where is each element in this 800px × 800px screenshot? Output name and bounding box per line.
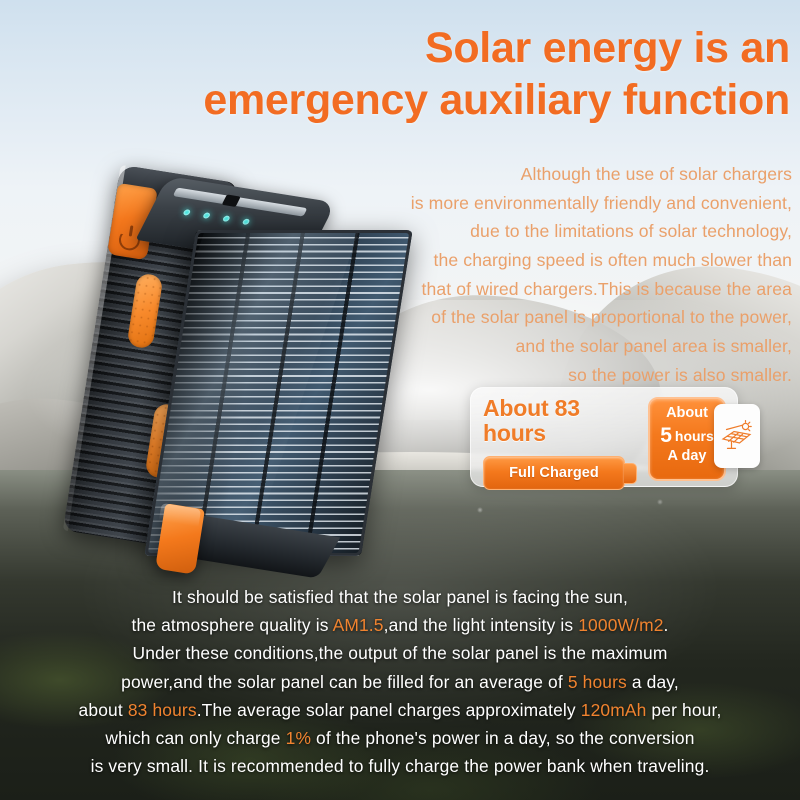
bottom-line: power,and the solar panel can be filled … bbox=[20, 668, 780, 696]
body-text: .The average solar panel charges approxi… bbox=[197, 700, 581, 720]
intro-line: is more environmentally friendly and con… bbox=[300, 189, 792, 218]
intro-line: of the solar panel is proportional to th… bbox=[300, 303, 792, 332]
intro-line: due to the limitations of solar technolo… bbox=[300, 217, 792, 246]
body-text: which can only charge bbox=[105, 728, 285, 748]
led-indicator bbox=[222, 215, 231, 222]
body-text: power,and the solar panel can be filled … bbox=[121, 672, 568, 692]
charging-time-callout-card: About 83 hours Full Charged About 5hours… bbox=[470, 387, 738, 487]
headline-line-1: Solar energy is an bbox=[100, 22, 790, 74]
bottom-paragraph: It should be satisfied that the solar pa… bbox=[20, 583, 780, 780]
intro-line: the charging speed is often much slower … bbox=[300, 246, 792, 275]
body-text: Under these conditions,the output of the… bbox=[133, 643, 668, 663]
bottom-line: the atmosphere quality is AM1.5,and the … bbox=[20, 611, 780, 639]
bottom-line: which can only charge 1% of the phone's … bbox=[20, 724, 780, 752]
highlighted-value: 120mAh bbox=[581, 700, 647, 720]
body-text: of the phone's power in a day, so the co… bbox=[311, 728, 695, 748]
intro-paragraph: Although the use of solar chargers is mo… bbox=[300, 160, 792, 389]
headline-line-2: emergency auxiliary function bbox=[100, 74, 790, 126]
body-text: about bbox=[79, 700, 128, 720]
body-text: the atmosphere quality is bbox=[131, 615, 332, 635]
led-indicator bbox=[202, 212, 211, 219]
page-title: Solar energy is an emergency auxiliary f… bbox=[100, 22, 790, 127]
intro-line: so the power is also smaller. bbox=[300, 361, 792, 390]
badge-unit: hours bbox=[675, 428, 714, 444]
highlighted-value: AM1.5 bbox=[333, 615, 384, 635]
power-icon-stem bbox=[129, 225, 133, 236]
callout-title: About 83 hours bbox=[483, 396, 635, 447]
body-text: . bbox=[664, 615, 669, 635]
body-text: a day, bbox=[627, 672, 679, 692]
battery-led-indicators bbox=[181, 209, 276, 231]
promo-image: Solar energy is an emergency auxiliary f… bbox=[0, 0, 800, 800]
solar-panel-sun-icon bbox=[720, 419, 754, 453]
bottom-line: is very small. It is recommended to full… bbox=[20, 752, 780, 780]
highlighted-value: 83 hours bbox=[128, 700, 197, 720]
body-text: ,and the light intensity is bbox=[384, 615, 579, 635]
highlighted-value: 1000W/m2 bbox=[578, 615, 663, 635]
intro-line: and the solar panel area is smaller, bbox=[300, 332, 792, 361]
led-indicator bbox=[242, 218, 251, 225]
battery-label: Full Charged bbox=[509, 465, 599, 481]
highlighted-value: 5 hours bbox=[568, 672, 627, 692]
highlighted-value: 1% bbox=[286, 728, 311, 748]
full-charged-battery-indicator: Full Charged bbox=[483, 456, 625, 490]
badge-line-about: About bbox=[650, 406, 724, 422]
badge-line-hours: 5hours bbox=[650, 424, 724, 447]
led-indicator bbox=[182, 209, 191, 216]
bottom-line: Under these conditions,the output of the… bbox=[20, 639, 780, 667]
callout-left-group: About 83 hours Full Charged bbox=[483, 396, 635, 490]
bottom-line: It should be satisfied that the solar pa… bbox=[20, 583, 780, 611]
badge-value: 5 bbox=[660, 424, 672, 447]
body-text: is very small. It is recommended to full… bbox=[91, 756, 710, 776]
badge-line-a-day: A day bbox=[650, 449, 724, 465]
intro-line: Although the use of solar chargers bbox=[300, 160, 792, 189]
solar-panel-icon-box bbox=[714, 404, 760, 468]
bottom-line: about 83 hours.The average solar panel c… bbox=[20, 696, 780, 724]
intro-line: that of wired chargers.This is because t… bbox=[300, 275, 792, 304]
body-text: per hour, bbox=[646, 700, 721, 720]
body-text: It should be satisfied that the solar pa… bbox=[172, 587, 628, 607]
battery-terminal-nub bbox=[624, 463, 637, 484]
